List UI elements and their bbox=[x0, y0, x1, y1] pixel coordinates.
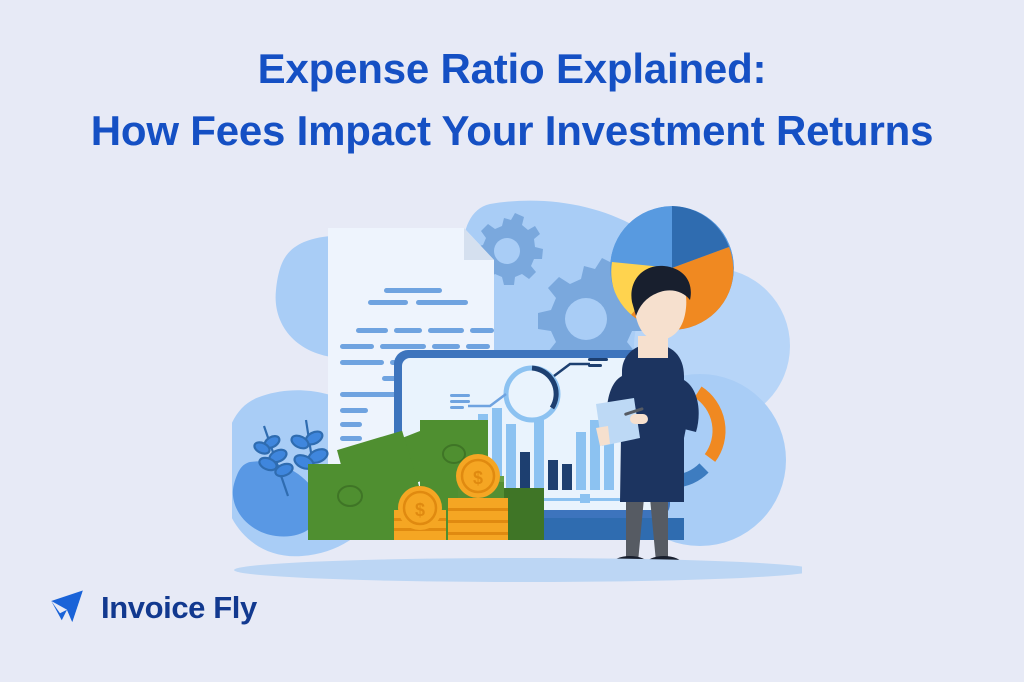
svg-text:$: $ bbox=[473, 468, 483, 488]
hero-illustration: $ $ bbox=[232, 176, 802, 596]
page-title-line-2: How Fees Impact Your Investment Returns bbox=[0, 106, 1024, 156]
hand-right bbox=[630, 414, 648, 424]
ear bbox=[640, 306, 648, 314]
brand-name: Invoice Fly bbox=[101, 590, 257, 626]
floor-shadow bbox=[234, 558, 802, 582]
svg-text:$: $ bbox=[415, 500, 425, 520]
paper-plane-icon bbox=[46, 587, 88, 629]
banner-root: Expense Ratio Explained: How Fees Impact… bbox=[0, 0, 1024, 682]
coin-stack-right bbox=[448, 498, 508, 540]
page-title: Expense Ratio Explained: How Fees Impact… bbox=[0, 44, 1024, 155]
page-title-line-1: Expense Ratio Explained: bbox=[0, 44, 1024, 94]
brand-logo[interactable]: Invoice Fly bbox=[46, 587, 257, 629]
